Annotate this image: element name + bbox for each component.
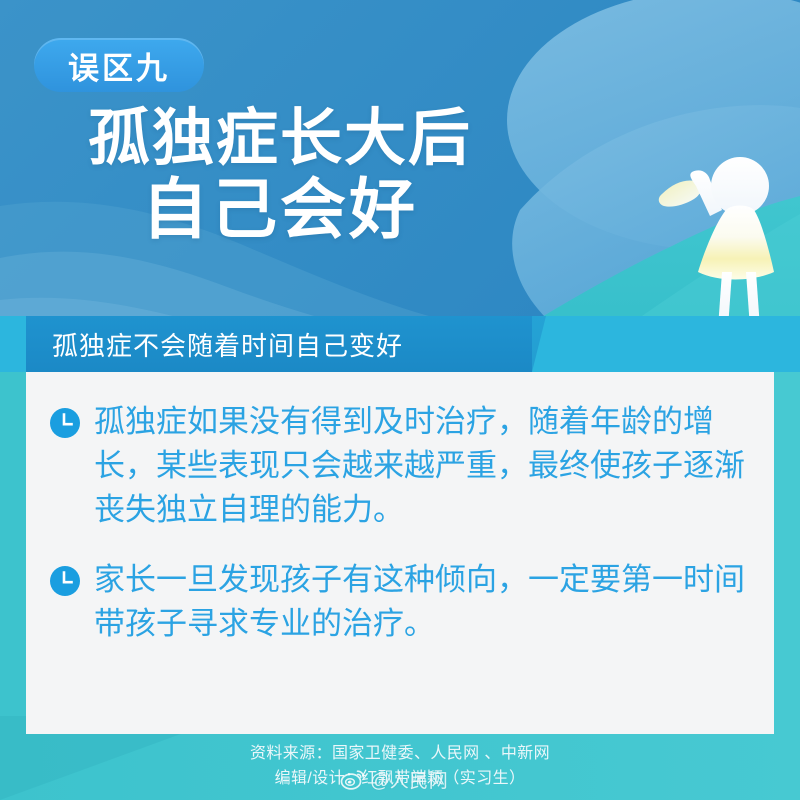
title-line-1: 孤独症长大后 [0, 104, 560, 173]
infographic-poster: 误区九 孤独症长大后 自己会好 孤独症不会随着时间自己变好 孤独症如果没有得到及… [0, 0, 800, 800]
list-item: 孤独症如果没有得到及时治疗，随着年龄的增长，某些表现只会越来越严重，最终使孩子逐… [50, 400, 750, 532]
list-item-text: 家长一旦发现孩子有这种倾向，一定要第一时间带孩子寻求专业的治疗。 [94, 558, 750, 646]
footer-credit-line: 编辑/设计：红飘带端颖（实习生） [275, 767, 526, 792]
subtitle-text: 孤独症不会随着时间自己变好 [52, 316, 403, 372]
list-item-text: 孤独症如果没有得到及时治疗，随着年龄的增长，某些表现只会越来越严重，最终使孩子逐… [94, 400, 750, 532]
clock-bullet-icon [50, 408, 80, 438]
title-line-2: 自己会好 [0, 173, 560, 247]
content-card: 孤独症如果没有得到及时治疗，随着年龄的增长，某些表现只会越来越严重，最终使孩子逐… [26, 372, 774, 734]
subtitle-bar: 孤独症不会随着时间自己变好 [0, 316, 800, 372]
list-item: 家长一旦发现孩子有这种倾向，一定要第一时间带孩子寻求专业的治疗。 [50, 558, 750, 646]
footer: 资料来源：国家卫健委、人民网 、中新网 编辑/设计：红飘带端颖（实习生） [0, 734, 800, 800]
footer-source-line: 资料来源：国家卫健委、人民网 、中新网 [250, 742, 550, 767]
clock-bullet-icon [50, 566, 80, 596]
waving-child-figure [648, 138, 800, 334]
page-title: 孤独症长大后 自己会好 [0, 104, 560, 247]
section-badge: 误区九 [34, 38, 204, 92]
section-badge-label: 误区九 [68, 43, 170, 88]
